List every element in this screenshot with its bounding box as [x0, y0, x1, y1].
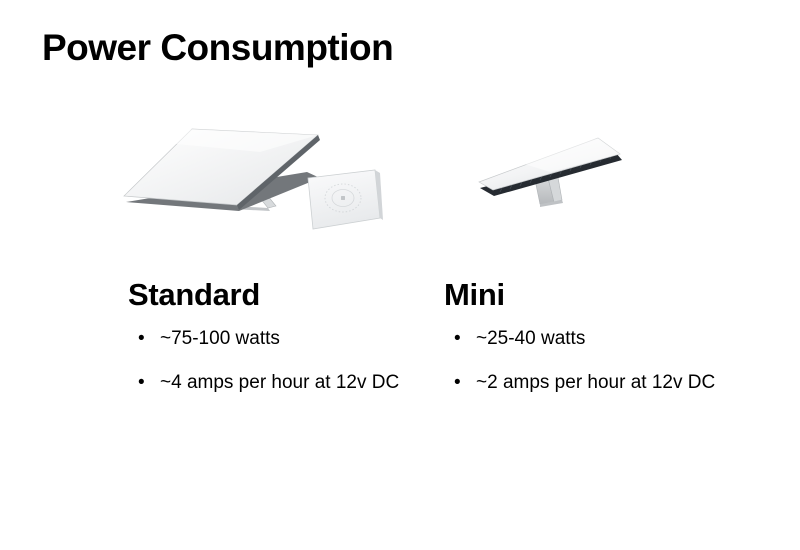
- list-item: • ~75-100 watts: [128, 325, 400, 353]
- bullet-list-standard: • ~75-100 watts • ~4 amps per hour at 12…: [128, 325, 428, 397]
- column-mini: Mini • ~25-40 watts • ~2 amps per hour a…: [444, 278, 744, 414]
- list-item: • ~4 amps per hour at 12v DC: [128, 369, 400, 397]
- bullet-dot-icon: •: [138, 369, 145, 397]
- bullet-text: ~25-40 watts: [476, 325, 716, 353]
- bullet-dot-icon: •: [454, 369, 461, 397]
- standard-dish-illustration: [110, 110, 410, 260]
- bullet-dot-icon: •: [138, 325, 145, 353]
- list-item: • ~25-40 watts: [444, 325, 716, 353]
- column-heading-standard: Standard: [128, 278, 428, 313]
- bullet-text: ~2 amps per hour at 12v DC: [476, 369, 716, 397]
- column-heading-mini: Mini: [444, 278, 744, 313]
- bullet-dot-icon: •: [454, 325, 461, 353]
- router-module-icon: [308, 170, 383, 229]
- list-item: • ~2 amps per hour at 12v DC: [444, 369, 716, 397]
- slide-canvas: Power Consumption: [0, 0, 800, 550]
- bullet-list-mini: • ~25-40 watts • ~2 amps per hour at 12v…: [444, 325, 744, 397]
- bullet-text: ~4 amps per hour at 12v DC: [160, 369, 400, 397]
- column-standard: Standard • ~75-100 watts • ~4 amps per h…: [128, 278, 428, 414]
- product-illustration-row: [0, 110, 800, 260]
- bullet-text: ~75-100 watts: [160, 325, 400, 353]
- page-title: Power Consumption: [42, 28, 393, 69]
- mini-dish-illustration: [470, 110, 660, 260]
